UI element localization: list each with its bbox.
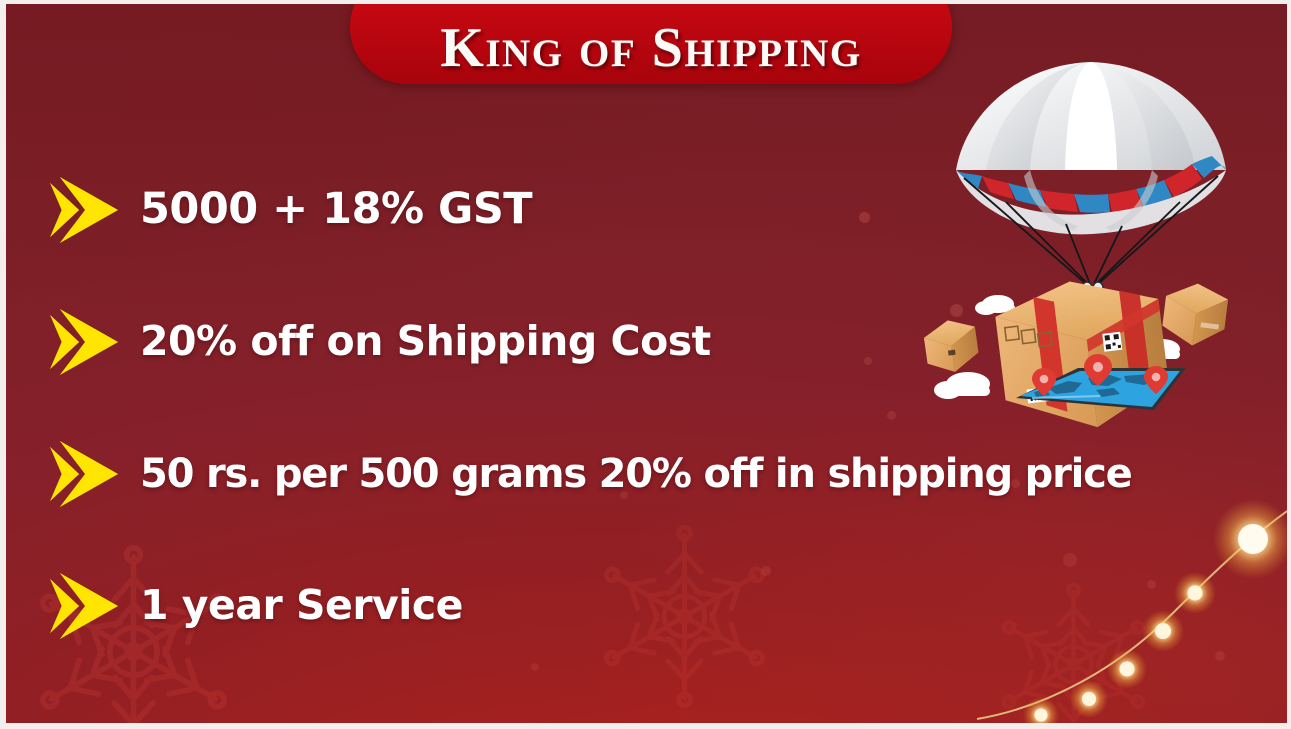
offer-list: 5000 + 18% GST 20% off on Shipping Cost bbox=[46, 144, 1246, 672]
double-chevron-right-icon bbox=[46, 569, 124, 643]
page-title: King of Shipping bbox=[440, 20, 861, 76]
offer-text: 50 rs. per 500 grams 20% off in shipping… bbox=[140, 453, 1132, 495]
banner-background: King of Shipping 5000 + 18% GST bbox=[6, 4, 1287, 723]
offer-text: 1 year Service bbox=[140, 584, 463, 627]
list-item: 50 rs. per 500 grams 20% off in shipping… bbox=[46, 408, 1246, 540]
promo-banner: King of Shipping 5000 + 18% GST bbox=[0, 0, 1291, 729]
double-chevron-right-icon bbox=[46, 173, 124, 247]
double-chevron-right-icon bbox=[46, 305, 124, 379]
list-item: 20% off on Shipping Cost bbox=[46, 276, 1246, 408]
list-item: 5000 + 18% GST bbox=[46, 144, 1246, 276]
double-chevron-right-icon bbox=[46, 437, 124, 511]
light-bulb bbox=[1070, 680, 1108, 718]
banner-title-pill: King of Shipping bbox=[350, 4, 952, 84]
offer-text: 5000 + 18% GST bbox=[140, 187, 532, 232]
light-bulb bbox=[1023, 697, 1059, 723]
list-item: 1 year Service bbox=[46, 540, 1246, 672]
offer-text: 20% off on Shipping Cost bbox=[140, 320, 711, 363]
